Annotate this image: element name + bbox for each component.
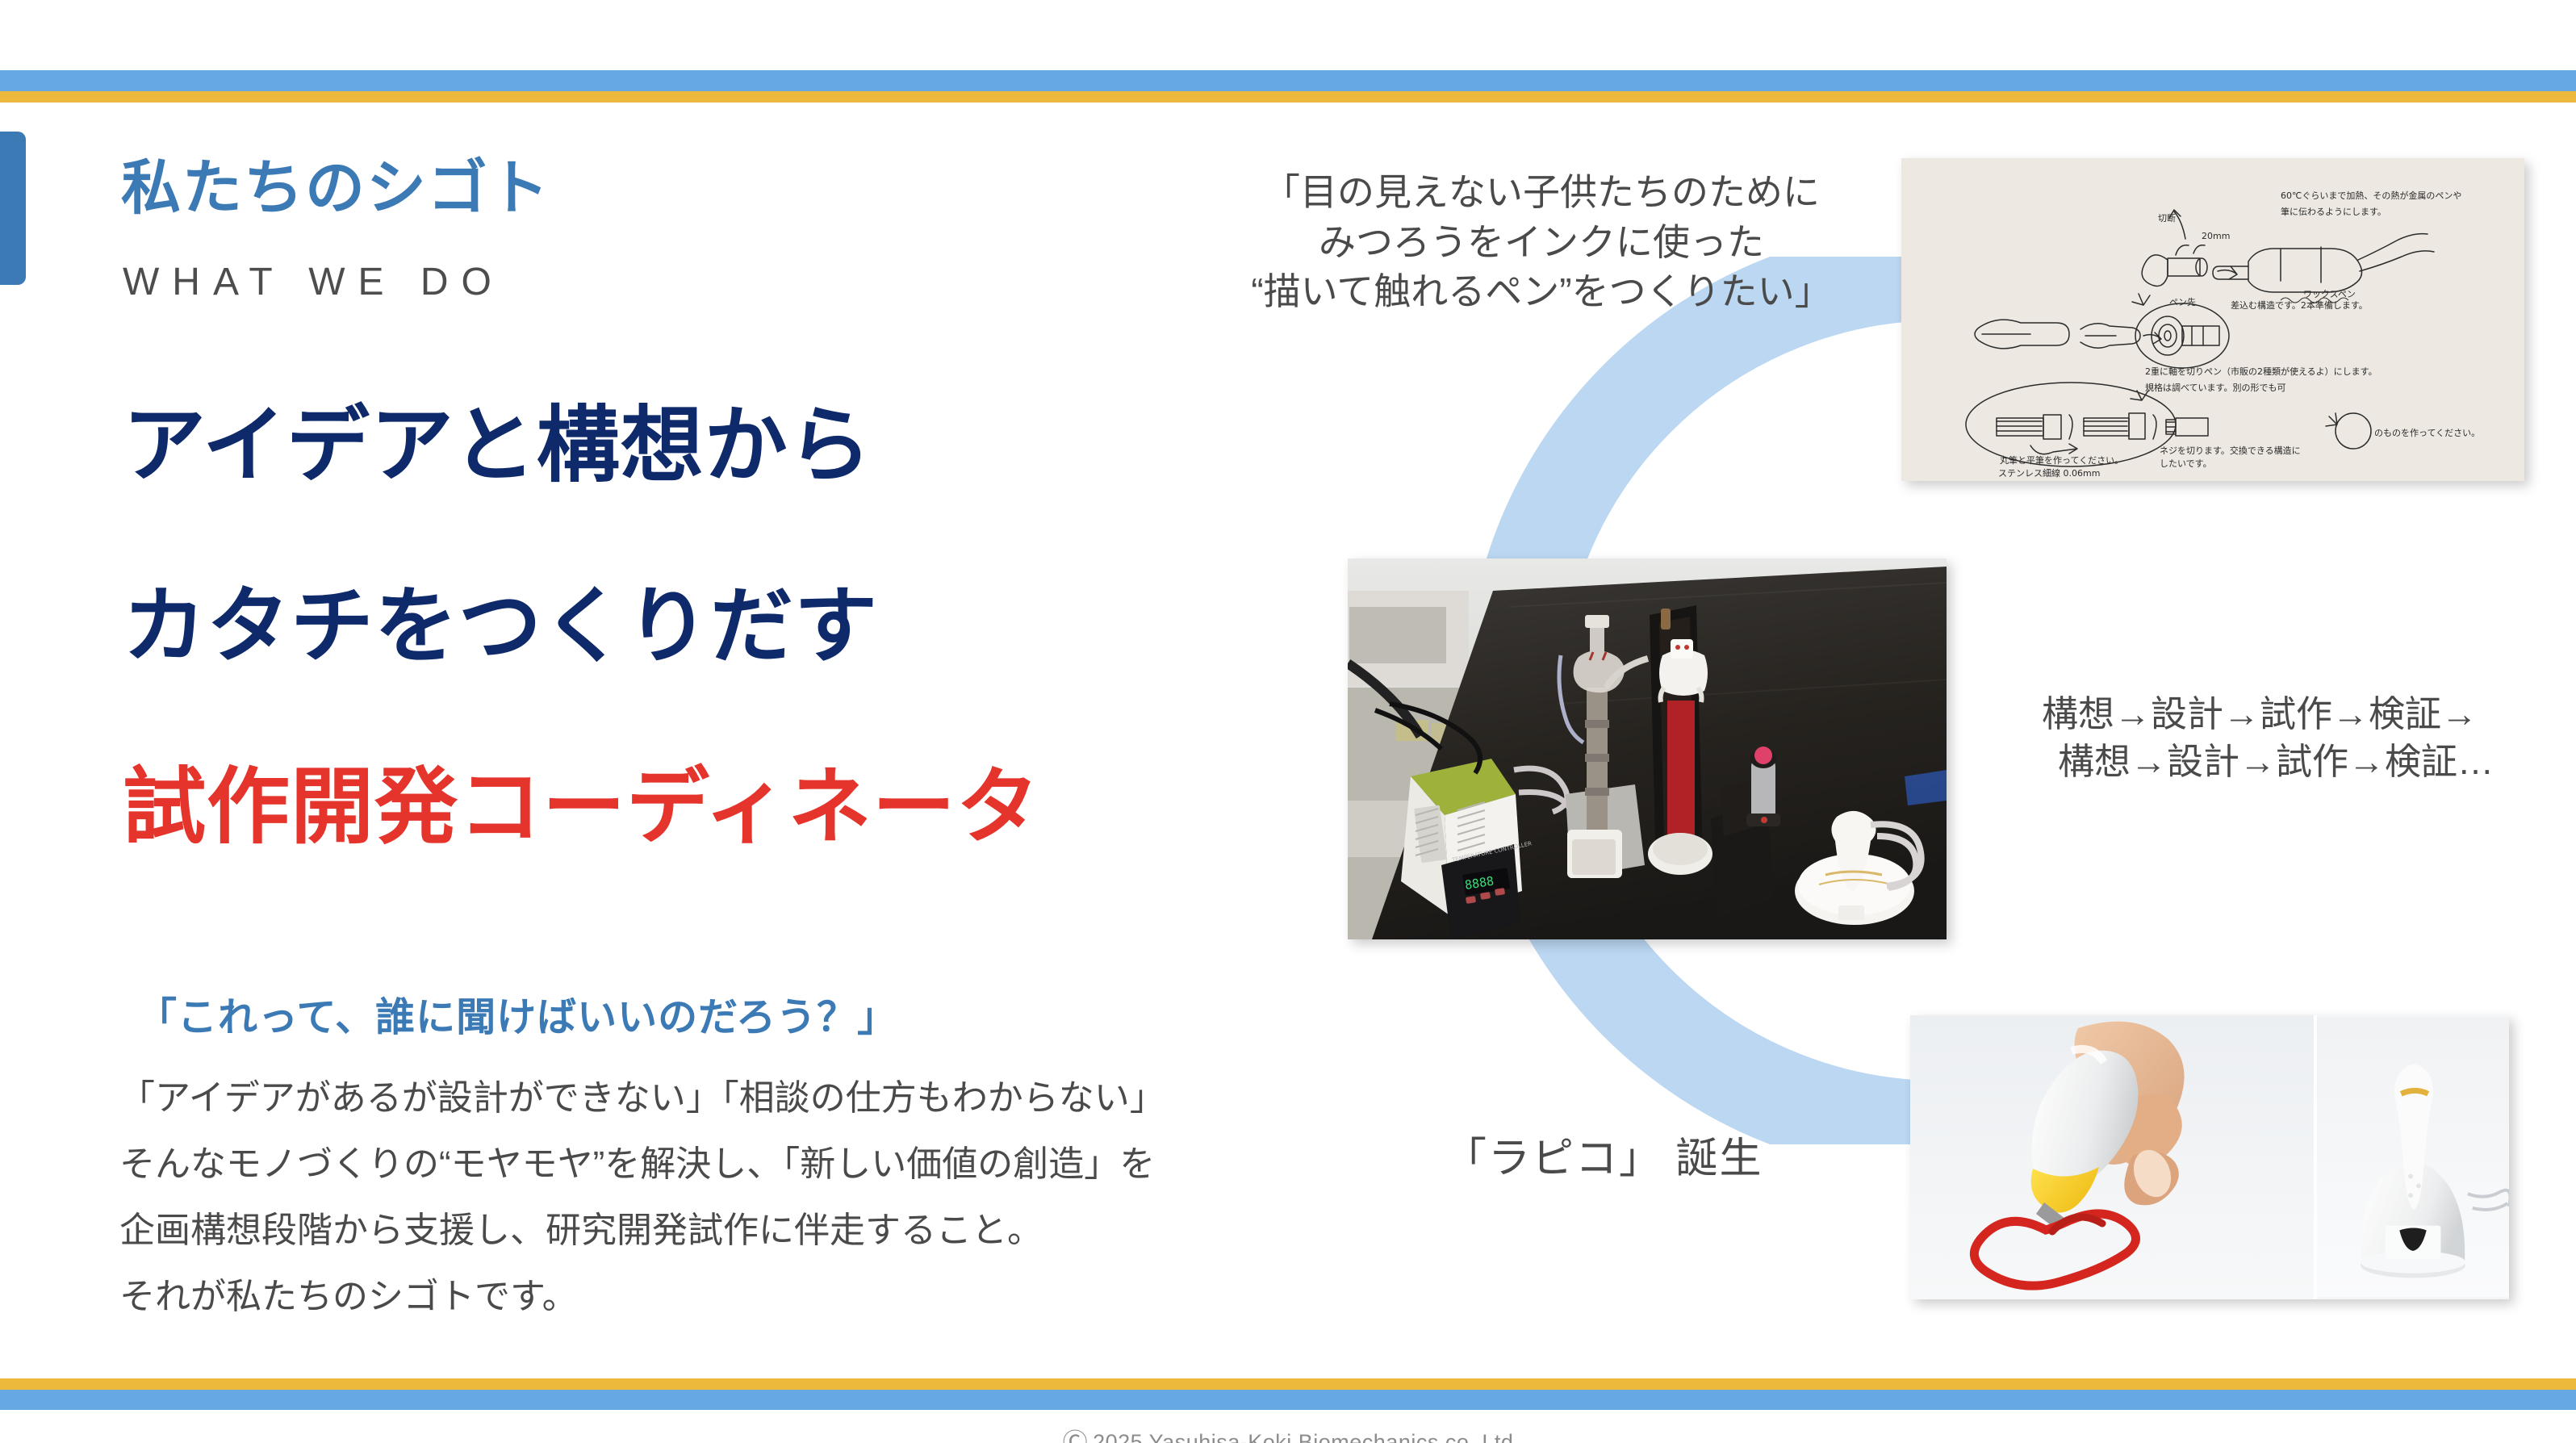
svg-text:のものを作ってください。: のものを作ってください。 <box>2374 428 2480 438</box>
svg-text:ペン先: ペン先 <box>2169 297 2196 307</box>
title-accent-bar <box>0 132 26 285</box>
svg-text:ネジを切ります。交換できる構造に: ネジを切ります。交換できる構造に <box>2160 445 2301 456</box>
rapico-birth-label: 「ラピコ」 誕生 <box>1445 1124 1763 1185</box>
svg-text:ワックスペン: ワックスペン <box>2303 289 2356 299</box>
body-line-2: そんなモノづくりの“モヤモヤ”を解決し、「新しい価値の創造」を <box>119 1135 1155 1186</box>
svg-text:規格は調べています。別の形でも可: 規格は調べています。別の形でも可 <box>2145 382 2285 393</box>
svg-text:2重に軸を切りペン（市販の2種類が使えるよ）にします。: 2重に軸を切りペン（市販の2種類が使えるよ）にします。 <box>2145 366 2377 377</box>
product-photo-group <box>1910 1015 2509 1299</box>
footer-copyright: Ⓒ2025 Yasuhisa-Koki Biomechanics co.,Ltd <box>0 1422 2576 1443</box>
slide-canvas: 私たちのシゴト WHAT WE DO アイデアと構想から カタチをつくりだす 試… <box>0 0 2576 1443</box>
prototype-lab-photo: 8888 TEMPERATURE CONTROLLER <box>1348 558 1947 939</box>
body-line-4: それが私たちのシゴトです。 <box>119 1267 578 1319</box>
svg-text:20mm: 20mm <box>2202 231 2230 241</box>
product-drawing-photo <box>1910 1015 2314 1299</box>
svg-text:筆に伝わるようにします。: 筆に伝わるようにします。 <box>2281 206 2386 217</box>
top-blue-rule <box>0 70 2576 91</box>
sketch-image: 60℃ぐらいまで加熱、その熱が金属のペンや 筆に伝わるようにします。 切断 20… <box>1901 158 2524 481</box>
copyright-icon: Ⓒ <box>1063 1428 1089 1443</box>
product-stand-photo <box>2314 1015 2509 1299</box>
svg-text:丸筆と平筆を作ってください。: 丸筆と平筆を作ってください。 <box>2000 454 2123 466</box>
page-subtitle: WHAT WE DO <box>123 263 504 302</box>
headline-line-1: アイデアと構想から <box>123 404 872 487</box>
body-line-1: 「アイデアがあるが設計ができない」「相談の仕方もわからない」 <box>119 1069 1165 1120</box>
quote-line-2: みつろうをインクに使った <box>1186 218 1896 268</box>
svg-text:ステンレス細線 0.06mm: ステンレス細線 0.06mm <box>1998 467 2100 479</box>
lead-quote: 「これって、誰に聞けばいいのだろう？」 <box>137 985 897 1043</box>
page-title: 私たちのシゴト <box>121 158 550 218</box>
bottom-blue-rule <box>0 1390 2576 1410</box>
body-line-3: 企画構想段階から支援し、研究開発試作に伴走すること。 <box>119 1201 1043 1253</box>
svg-text:したいです。: したいです。 <box>2160 458 2212 469</box>
process-cycle-text: 構想→設計→試作→検証→ 構想→設計→試作→検証… <box>1961 690 2558 786</box>
customer-voice-quote: 「目の見えない子供たちのために みつろうをインクに使った “描いて触れるペン”を… <box>1186 168 1896 317</box>
bottom-gold-rule <box>0 1378 2576 1390</box>
process-line-1: 構想→設計→試作→検証→ <box>1961 690 2558 738</box>
quote-line-1: 「目の見えない子供たちのために <box>1186 168 1896 218</box>
headline-line-2: カタチをつくりだす <box>123 584 878 667</box>
process-line-2: 構想→設計→試作→検証… <box>1961 738 2558 785</box>
top-gold-rule <box>0 91 2576 102</box>
quote-line-3: “描いて触れるペン”をつくりたい」 <box>1186 267 1896 317</box>
svg-text:切断: 切断 <box>2158 212 2176 224</box>
headline-line-3-highlight: 試作開発コーディネータ <box>123 765 1040 848</box>
copyright-text: 2025 Yasuhisa-Koki Biomechanics co.,Ltd <box>1093 1430 1513 1443</box>
svg-text:60℃ぐらいまで加熱、その熱が金属のペンや: 60℃ぐらいまで加熱、その熱が金属のペンや <box>2281 190 2461 201</box>
